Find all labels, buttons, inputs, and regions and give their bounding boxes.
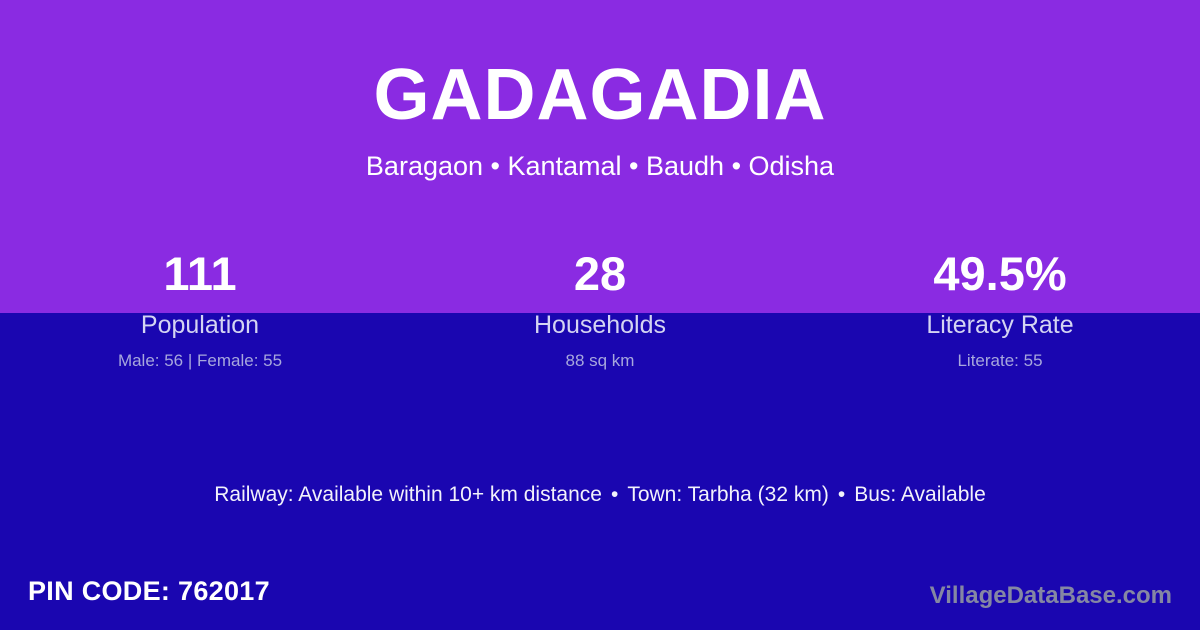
- stat-sublabel: Literate: 55: [957, 352, 1042, 369]
- stat-value: 49.5%: [933, 245, 1066, 301]
- stat-card-population: 111 Population Male: 56 | Female: 55: [0, 245, 400, 385]
- stat-label: Population: [141, 313, 259, 338]
- infra-railway: Railway: Available within 10+ km distanc…: [214, 483, 602, 506]
- stat-label: Literacy Rate: [926, 313, 1073, 338]
- stat-label: Households: [534, 313, 666, 338]
- stat-card-households: 28 Households 88 sq km: [400, 245, 800, 385]
- infra-bus: Bus: Available: [854, 483, 986, 506]
- infra-separator: •: [829, 483, 854, 507]
- infra-town: Town: Tarbha (32 km): [627, 483, 829, 506]
- village-info-card: GADAGADIA Baragaon • Kantamal • Baudh • …: [0, 0, 1200, 630]
- footer: PIN CODE: 762017 VillageDataBase.com: [0, 570, 1200, 625]
- pin-code: PIN CODE: 762017: [28, 576, 270, 607]
- stat-card-literacy-rate: 49.5% Literacy Rate Literate: 55: [800, 245, 1200, 385]
- stat-value: 111: [163, 245, 236, 301]
- infra-separator: •: [602, 483, 627, 507]
- breadcrumb: Baragaon • Kantamal • Baudh • Odisha: [366, 151, 834, 182]
- stats-row: 111 Population Male: 56 | Female: 55 28 …: [0, 245, 1200, 385]
- site-watermark: VillageDataBase.com: [930, 582, 1172, 610]
- stat-value: 28: [574, 245, 626, 301]
- header: GADAGADIA Baragaon • Kantamal • Baudh • …: [0, 0, 1200, 240]
- page-title: GADAGADIA: [374, 59, 827, 131]
- infrastructure-row: Railway: Available within 10+ km distanc…: [0, 483, 1200, 507]
- stat-sublabel: Male: 56 | Female: 55: [118, 352, 282, 369]
- stat-sublabel: 88 sq km: [566, 352, 635, 369]
